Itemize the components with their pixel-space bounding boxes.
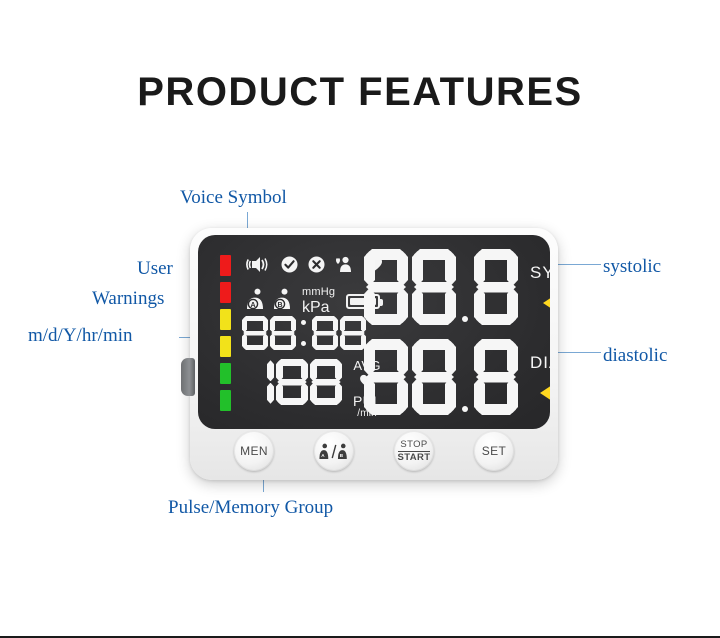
lcd-screen: A B mmHg kPa [198,235,550,429]
systolic-digit-1 [364,249,408,325]
page-title: PRODUCT FEATURES [0,70,720,115]
diastolic-digits [364,339,518,415]
warning-segment-green-1 [220,363,231,384]
time-colon [301,320,306,346]
button-row: MEN A B STOP START SET [198,430,550,472]
systolic-digits [364,249,518,325]
diastolic-side: DIA [530,353,550,401]
svg-text:A: A [321,453,325,458]
svg-text:B: B [340,453,344,458]
start-label: START [398,451,431,463]
unit-kpa: kPa [302,300,335,316]
annotation-systolic: systolic [603,256,661,278]
voice-speaker-icon [245,256,271,273]
systolic-classification-arrow-icon [543,295,550,311]
systolic-reading: SYS [364,249,550,325]
unit-mmhg: mmHg [302,287,335,298]
time-digit-1 [242,316,268,350]
warning-segment-red-2 [220,282,231,303]
unit-labels: mmHg kPa [302,287,335,316]
annotation-datetime: m/d/Y/hr/min [28,325,133,347]
warning-segment-yellow-1 [220,309,231,330]
systolic-side: SYS [530,263,550,311]
systolic-digit-2 [412,249,456,325]
svg-text:A: A [250,302,255,309]
diastolic-reading: DIA [364,339,550,415]
mem-button[interactable]: MEN [234,431,274,471]
annotation-warnings: Warnings [92,288,164,310]
blood-pressure-monitor: A B mmHg kPa [190,228,558,480]
diastolic-digit-2 [412,339,456,415]
svg-text:B: B [277,302,282,309]
warning-segment-yellow-2 [220,336,231,357]
pulse-digit-2 [276,359,308,405]
systolic-digit-3 [474,249,518,325]
annotation-user: User [137,258,173,280]
user-switch-button[interactable]: A B [314,431,354,471]
annotation-diastolic: diastolic [603,345,667,367]
diastolic-decimal-point [462,406,468,412]
arrhythmia-icon [335,256,353,273]
side-port [181,358,195,396]
stop-label: STOP [400,440,427,451]
set-button[interactable]: SET [474,431,514,471]
dia-label: DIA [530,353,550,373]
sys-label: SYS [530,263,550,283]
diastolic-digit-1 [364,339,408,415]
user-b-icon: B [272,288,292,315]
annotation-pulse-memory-group: Pulse/Memory Group [168,497,333,519]
time-digit-3 [312,316,338,350]
error-circle-icon [308,256,325,273]
annotation-voice-symbol: Voice Symbol [180,187,287,209]
pulse-digit-3 [310,359,342,405]
time-digit-4 [340,316,366,350]
systolic-decimal-point [462,316,468,322]
time-display [242,316,366,350]
product-features-page: PRODUCT FEATURES Voice Symbol User Warni… [0,0,720,638]
diastolic-classification-arrow-icon [540,385,550,401]
time-digit-2 [270,316,296,350]
diastolic-digit-3 [474,339,518,415]
warning-segment-red-1 [220,255,231,276]
check-circle-icon [281,256,298,273]
pulse-digit-1 [242,359,274,405]
pulse-display: AVG PUL /min [242,359,381,420]
status-icon-row [245,256,383,273]
warning-segment-green-2 [220,390,231,411]
meta-row: A B mmHg kPa [245,287,380,316]
stop-start-button[interactable]: STOP START [394,431,434,471]
warning-level-bar [220,255,231,411]
user-a-icon: A [245,288,265,315]
